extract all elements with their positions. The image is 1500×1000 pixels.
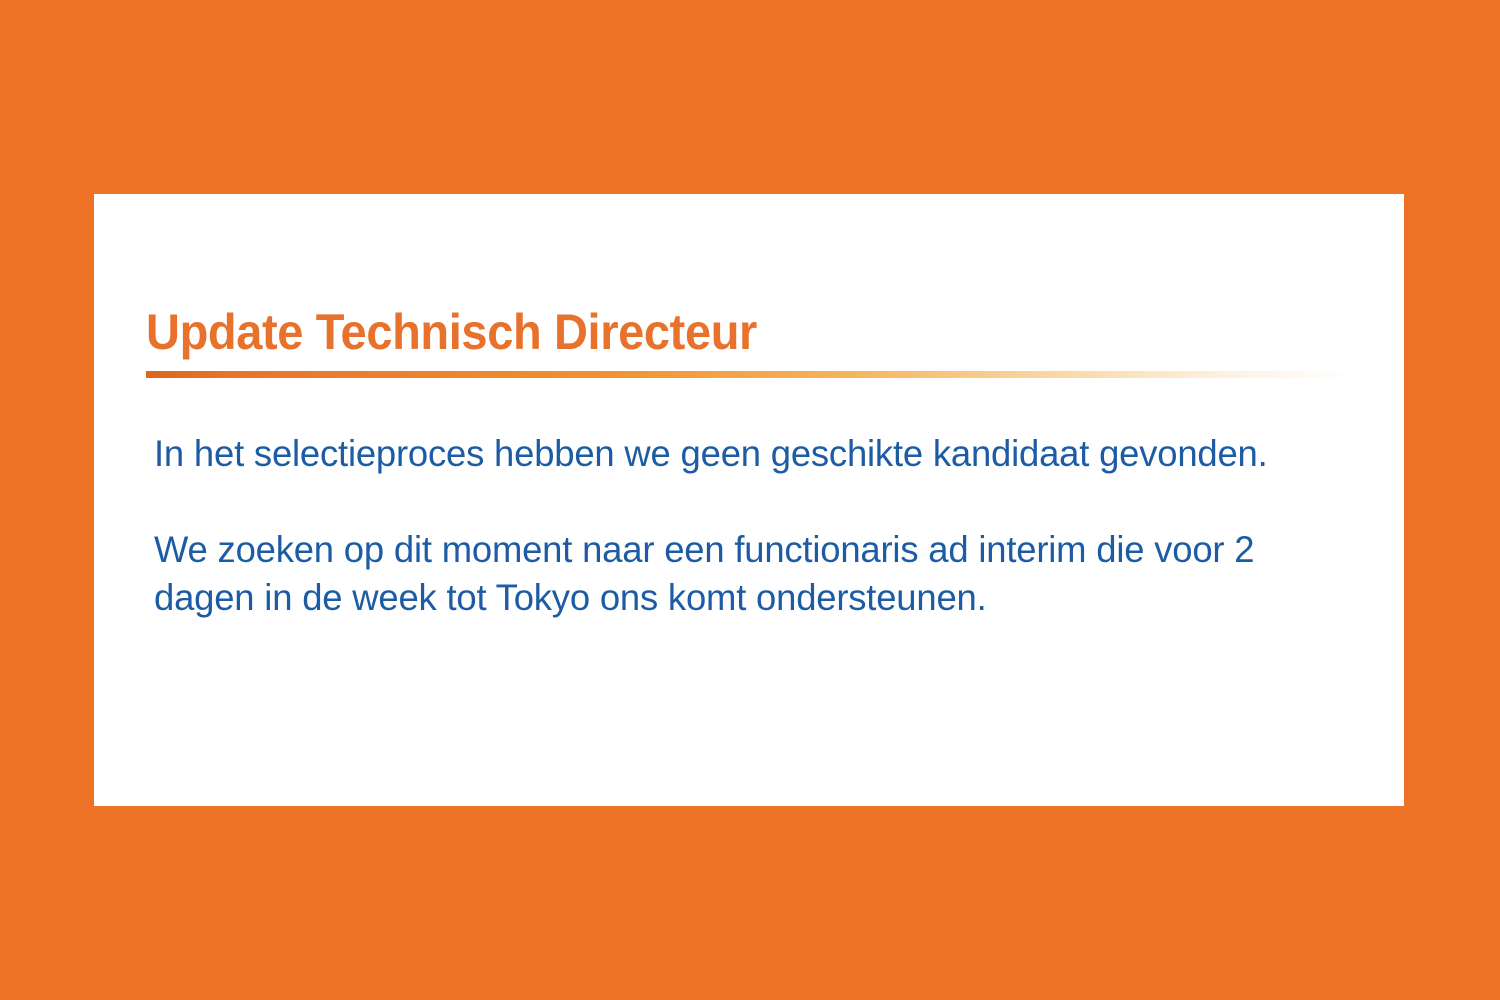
body-paragraph-2: We zoeken op dit moment naar een functio… <box>154 526 1316 622</box>
body-copy: In het selectieproces hebben we geen ges… <box>154 430 1334 622</box>
paragraph-spacer <box>154 478 1334 526</box>
content-card: Update Technisch Directeur In het select… <box>94 194 1404 806</box>
heading-block: Update Technisch Directeur <box>146 306 1361 378</box>
page-title: Update Technisch Directeur <box>146 306 1288 359</box>
body-paragraph-1: In het selectieproces hebben we geen ges… <box>154 430 1316 478</box>
title-underline-divider <box>146 371 1356 378</box>
slide-canvas: Update Technisch Directeur In het select… <box>0 0 1500 1000</box>
